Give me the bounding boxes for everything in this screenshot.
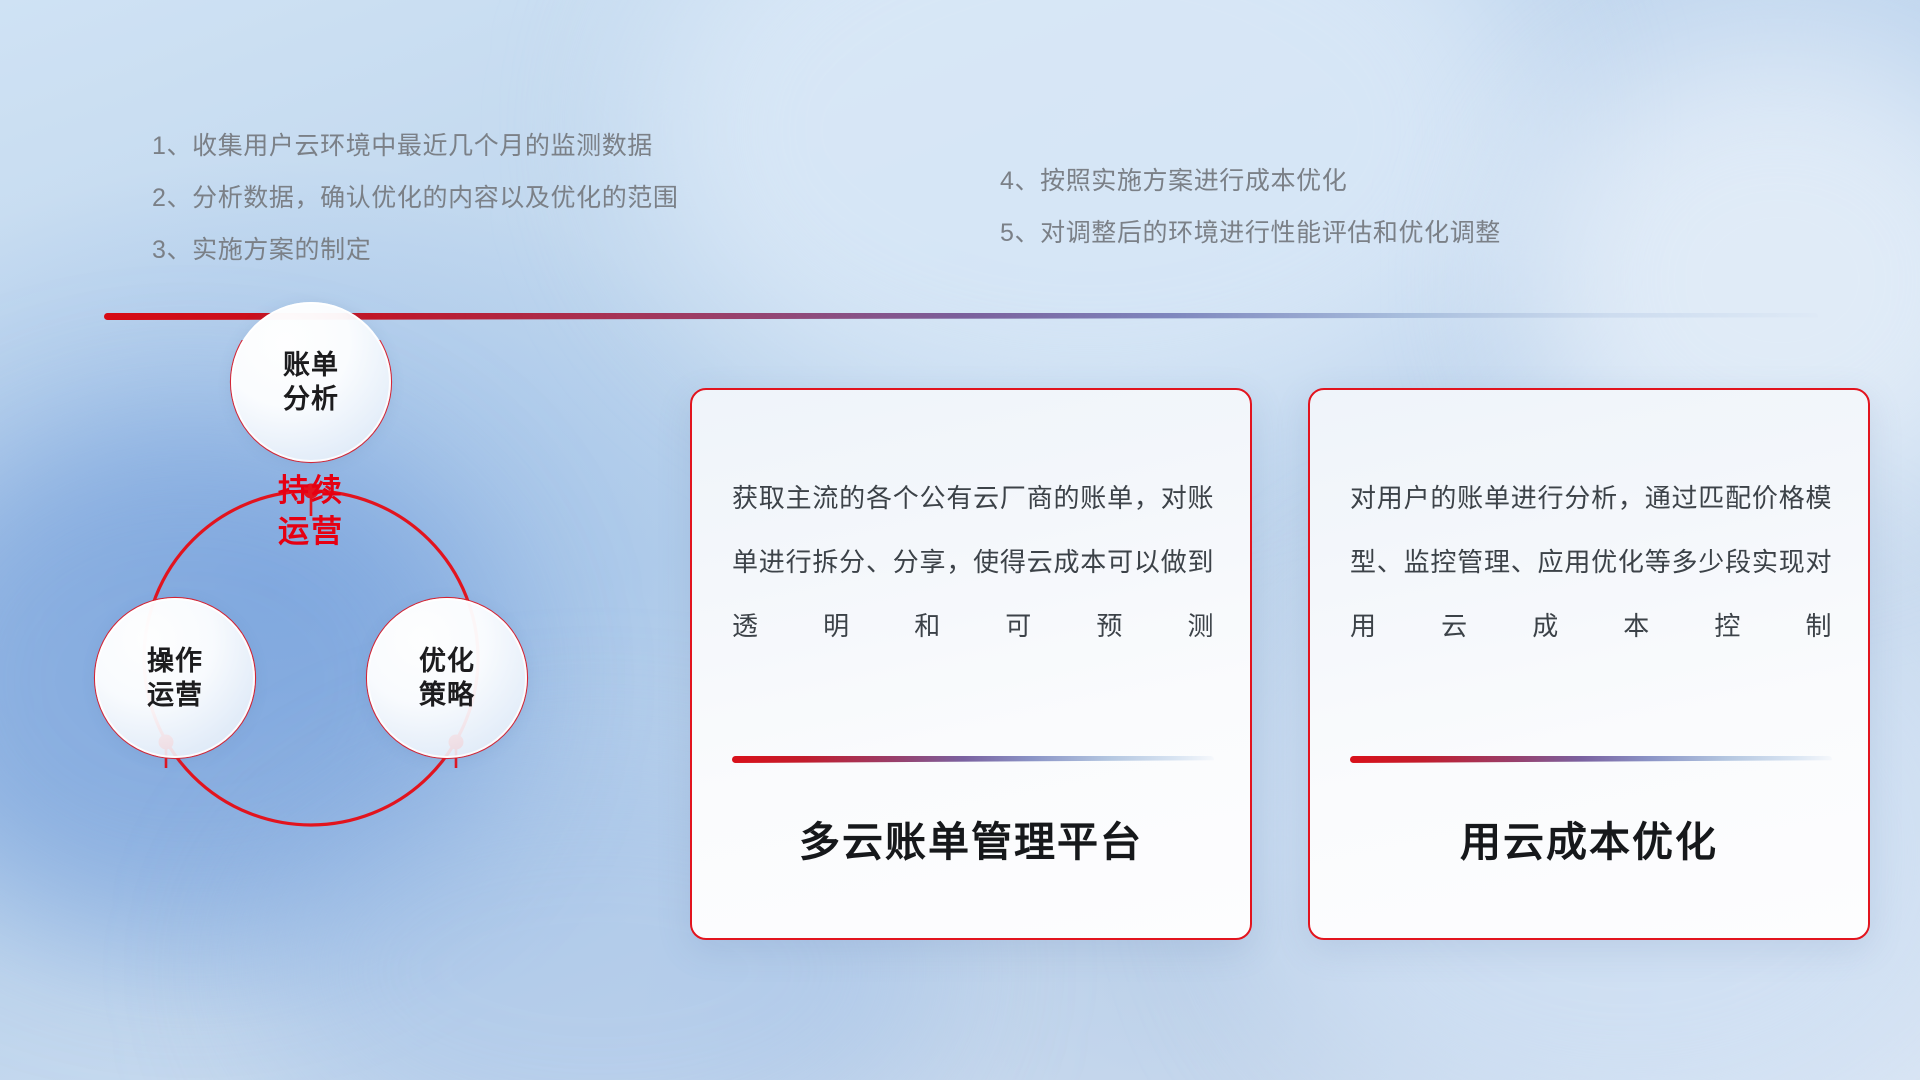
venn-bubble-billing-analysis[interactable]: 账单 分析 bbox=[231, 302, 391, 462]
bubble-label-line1: 账单 bbox=[283, 348, 339, 382]
card-body-text: 获取主流的各个公有云厂商的账单，对账单进行拆分、分享，使得云成本可以做到透明和可… bbox=[732, 466, 1214, 658]
feature-card-multicloud-billing[interactable]: 获取主流的各个公有云厂商的账单，对账单进行拆分、分享，使得云成本可以做到透明和可… bbox=[690, 388, 1252, 940]
venn-center-label: 持续 运营 bbox=[231, 470, 391, 552]
card-accent-rule bbox=[1350, 756, 1832, 763]
steps-list-right: 4、按照实施方案进行成本优化 5、对调整后的环境进行性能评估和优化调整 bbox=[1000, 155, 1501, 259]
bubble-label-line2: 策略 bbox=[419, 678, 475, 712]
slide-canvas: 1、收集用户云环境中最近几个月的监测数据 2、分析数据，确认优化的内容以及优化的… bbox=[0, 0, 1920, 1080]
venn-bubble-optimization-strategy[interactable]: 优化 策略 bbox=[367, 598, 527, 758]
card-title: 用云成本优化 bbox=[1310, 808, 1868, 868]
feature-card-cloud-cost-optimization[interactable]: 对用户的账单进行分析，通过匹配价格模型、监控管理、应用优化等多少段实现对用云成本… bbox=[1308, 388, 1870, 940]
venn-center-line2: 运营 bbox=[231, 511, 391, 552]
list-item: 3、实施方案的制定 bbox=[152, 224, 679, 276]
venn-bubble-operations[interactable]: 操作 运营 bbox=[95, 598, 255, 758]
venn-diagram: 账单 分析 操作 运营 优化 策略 持续 运营 bbox=[90, 340, 620, 940]
list-item: 1、收集用户云环境中最近几个月的监测数据 bbox=[152, 120, 679, 172]
bubble-label-line1: 操作 bbox=[147, 644, 203, 678]
steps-list-left: 1、收集用户云环境中最近几个月的监测数据 2、分析数据，确认优化的内容以及优化的… bbox=[152, 120, 679, 276]
card-title: 多云账单管理平台 bbox=[692, 808, 1250, 868]
bubble-label-line2: 分析 bbox=[283, 382, 339, 416]
list-item: 4、按照实施方案进行成本优化 bbox=[1000, 155, 1501, 207]
bubble-label-line2: 运营 bbox=[147, 678, 203, 712]
card-accent-rule bbox=[732, 756, 1214, 763]
venn-center-line1: 持续 bbox=[231, 470, 391, 511]
bubble-label-line1: 优化 bbox=[419, 644, 475, 678]
card-body-text: 对用户的账单进行分析，通过匹配价格模型、监控管理、应用优化等多少段实现对用云成本… bbox=[1350, 466, 1832, 658]
list-item: 5、对调整后的环境进行性能评估和优化调整 bbox=[1000, 207, 1501, 259]
list-item: 2、分析数据，确认优化的内容以及优化的范围 bbox=[152, 172, 679, 224]
